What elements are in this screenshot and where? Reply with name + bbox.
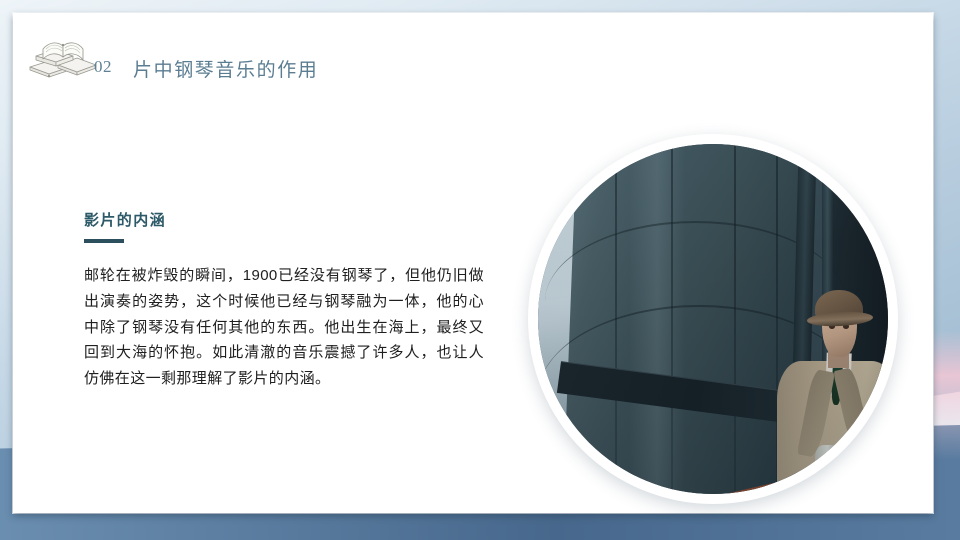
header-section-title: 片中钢琴音乐的作用 bbox=[133, 55, 318, 82]
header-section-number: 02 bbox=[94, 57, 112, 77]
slide-canvas: 02 片中钢琴音乐的作用 影片的内涵 邮轮在被炸毁的瞬间，1900已经没有钢琴了… bbox=[13, 13, 933, 513]
photo-inner-frame bbox=[538, 144, 888, 494]
subtitle-underline-rule bbox=[84, 239, 124, 243]
film-still-photo bbox=[528, 134, 898, 504]
slide-stage: 02 片中钢琴音乐的作用 影片的内涵 邮轮在被炸毁的瞬间，1900已经没有钢琴了… bbox=[0, 0, 960, 540]
slide-header: 02 片中钢琴音乐的作用 bbox=[13, 13, 933, 109]
content-body-paragraph: 邮轮在被炸毁的瞬间，1900已经没有钢琴了，但他仍旧做出演奏的姿势，这个时候他已… bbox=[84, 263, 484, 392]
open-book-stack-icon bbox=[25, 27, 103, 81]
content-subtitle: 影片的内涵 bbox=[84, 209, 166, 230]
photo-color-grade bbox=[538, 144, 888, 494]
